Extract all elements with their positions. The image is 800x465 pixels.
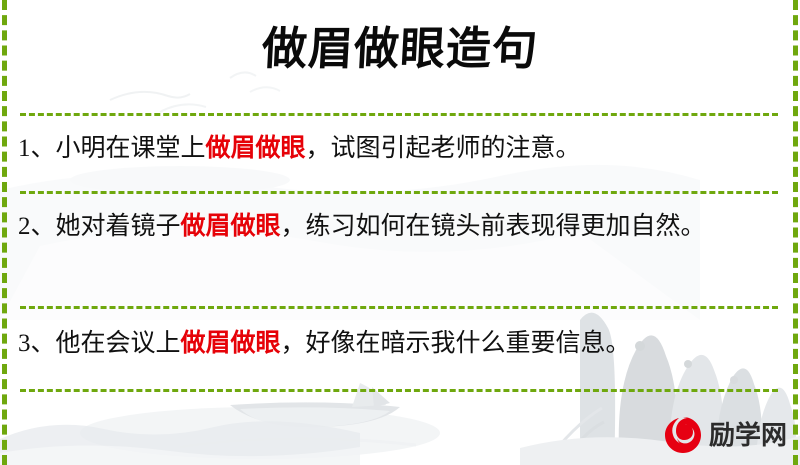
site-logo[interactable]: 励学网 [663,415,787,455]
keyword-highlight-1: 做眉做眼 [206,135,306,162]
sentence-text-before-3: 他在会议上 [56,330,181,357]
sentence-item-2: 2、她对着镜子做眉做眼，练习如何在镜头前表现得更加自然。 [18,208,783,246]
right-dashed-border [793,0,798,465]
sentence-text-before-1: 小明在课堂上 [56,135,206,162]
separator-2 [20,191,778,194]
sentence-text-after-1: ，试图引起老师的注意。 [306,135,581,162]
sentence-index-1: 1、 [18,135,56,162]
sentence-text-before-2: 她对着镜子 [56,213,181,240]
flame-swirl-icon [663,415,703,455]
sentence-text-after-3: ，好像在暗示我什么重要信息。 [281,330,631,357]
left-dashed-border [2,0,7,465]
separator-1 [20,113,778,116]
separator-4 [20,389,778,392]
keyword-highlight-2: 做眉做眼 [181,213,281,240]
slide-page: 做眉做眼造句 1、小明在课堂上做眉做眼，试图引起老师的注意。 2、她对着镜子做眉… [0,0,800,465]
sentence-index-3: 3、 [18,330,56,357]
sentence-item-1: 1、小明在课堂上做眉做眼，试图引起老师的注意。 [18,130,783,168]
logo-text: 励学网 [709,422,787,448]
hill-watermark [0,405,360,465]
sentence-text-after-2: ，练习如何在镜头前表现得更加自然。 [281,213,706,240]
page-title: 做眉做眼造句 [0,24,800,76]
sentence-item-3: 3、他在会议上做眉做眼，好像在暗示我什么重要信息。 [18,325,783,363]
keyword-highlight-3: 做眉做眼 [181,330,281,357]
separator-3 [20,306,778,309]
sentence-index-2: 2、 [18,213,56,240]
